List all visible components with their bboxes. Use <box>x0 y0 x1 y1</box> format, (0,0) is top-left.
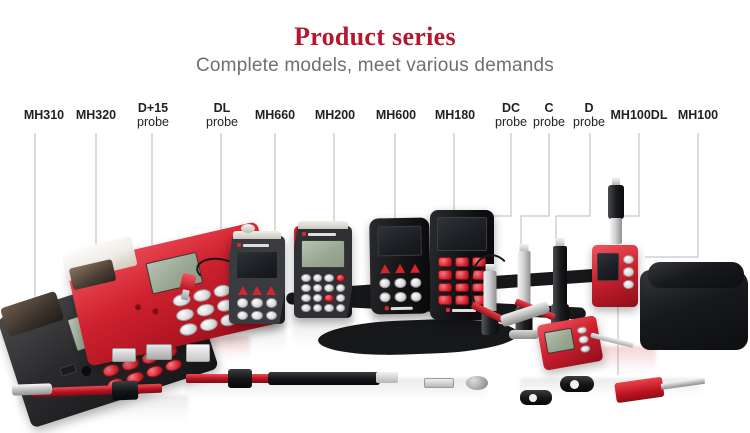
accessory-collar-2 <box>112 381 139 401</box>
test-block-2 <box>146 344 172 360</box>
mh200-display <box>301 240 345 268</box>
mh100dl-impact-probe <box>604 178 628 248</box>
product-mh100dl <box>592 245 638 307</box>
product-label-mh100: MH100 <box>653 108 743 122</box>
accessory-tube-silver <box>12 383 52 395</box>
mh600-display <box>377 226 422 257</box>
mh200-keypad[interactable] <box>301 274 345 312</box>
test-block-4 <box>424 378 454 388</box>
label-line-1: MH100 <box>678 108 718 122</box>
mh660-brand <box>237 243 273 247</box>
product-c-probe <box>512 244 536 342</box>
mh660-display <box>236 251 278 279</box>
product-series-banner: Product series Complete models, meet var… <box>0 0 750 433</box>
product-mh600 <box>369 217 431 314</box>
mh600-arrow-keys[interactable] <box>379 264 421 276</box>
test-block-3 <box>186 344 210 362</box>
test-block-5 <box>466 376 488 390</box>
label-line-1: D+15 <box>138 101 168 115</box>
product-screwdriver <box>614 368 706 404</box>
mh180-display <box>437 217 487 251</box>
label-line-1: DL <box>214 101 231 115</box>
test-block-1 <box>112 348 136 362</box>
product-mh200 <box>294 226 352 318</box>
accessory-collar-1 <box>228 369 252 388</box>
mh100dl-keypad[interactable] <box>623 255 634 289</box>
mh600-keypad[interactable] <box>379 278 421 303</box>
page-subtitle: Complete models, meet various demands <box>0 55 750 77</box>
page-title: Product series <box>0 22 750 52</box>
mh600-brand <box>385 306 417 311</box>
label-line-1: D <box>584 101 593 115</box>
carry-case-flap <box>648 262 744 288</box>
mh660-arrow-keys[interactable] <box>237 286 277 296</box>
mh660-keypad[interactable] <box>237 298 277 320</box>
probe-support-hole <box>570 380 579 389</box>
accessory-bar-black <box>268 372 380 385</box>
probe-support-hole-2 <box>529 394 537 402</box>
product-mh660 <box>229 236 285 324</box>
product-mh100 <box>536 315 603 371</box>
mh200-brand <box>302 232 340 236</box>
mh100dl-display <box>597 253 619 281</box>
accessory-tip-1 <box>376 372 398 383</box>
product-photo-group <box>0 150 750 433</box>
label-line-1: MH200 <box>315 108 355 122</box>
